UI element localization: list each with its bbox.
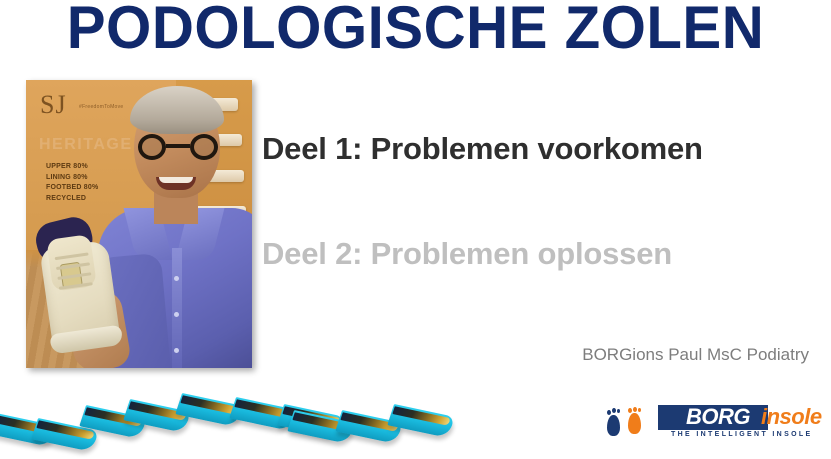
shirt-button (174, 348, 179, 353)
borginsole-logo: BORG insole THE INTELLIGENT INSOLE (604, 403, 819, 447)
sj-brand-mark: SJ (40, 90, 67, 120)
logo-brand-secondary: insole (761, 406, 822, 428)
banner-spec-line: LINING 80% (46, 173, 98, 184)
insole-decoration-strip (0, 394, 440, 459)
shirt-button (174, 276, 179, 281)
heading-deel-1: Deel 1: Problemen voorkomen (262, 131, 703, 167)
insole-graphic (390, 410, 452, 436)
glasses-icon (138, 134, 218, 160)
banner-spec-line: UPPER 80% (46, 162, 98, 173)
presenter-photo: SJ #FreedomToMove HERITAGE UPPER 80% LIN… (26, 80, 252, 368)
banner-spec-line: FOOTBED 80% (46, 183, 98, 194)
slide-canvas: PODOLOGISCHE ZOLEN SJ #FreedomToMove HER… (0, 0, 831, 459)
banner-spec-line: RECYCLED (46, 194, 98, 205)
heading-deel-2: Deel 2: Problemen oplossen (262, 236, 672, 272)
banner-specs: UPPER 80% LINING 80% FOOTBED 80% RECYCLE… (46, 162, 98, 204)
page-title: PODOLOGISCHE ZOLEN (12, 0, 818, 60)
logo-brand-primary: BORG (686, 406, 750, 428)
author-byline: BORGions Paul MsC Podiatry (582, 345, 809, 365)
banner-heading: HERITAGE (39, 136, 132, 154)
logo-tagline: THE INTELLIGENT INSOLE (671, 431, 813, 438)
shirt-button (174, 312, 179, 317)
sj-hashtag: #FreedomToMove (79, 104, 124, 110)
footprints-icon (604, 407, 652, 439)
